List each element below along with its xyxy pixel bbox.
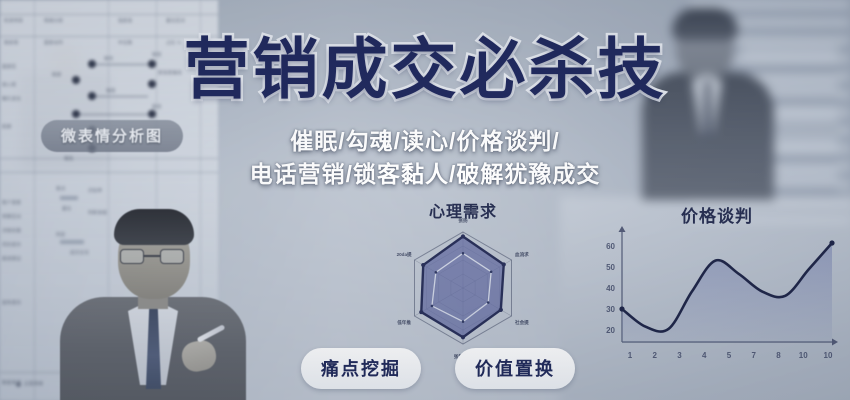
radar-chart: 心理需求 张扬血流求社会提张掌提求低年推20da提 <box>348 198 578 363</box>
pill-pain-point-mining[interactable]: 痛点挖掘 <box>301 348 421 389</box>
svg-text:10: 10 <box>799 351 808 360</box>
svg-text:低年推: 低年推 <box>396 319 411 326</box>
radar-chart-canvas: 张扬血流求社会提张掌提求低年推20da提 <box>348 218 578 363</box>
foreground-presenter <box>56 205 246 400</box>
subtitle-line-2: 电话营销/锁客黏人/破解犹豫成交 <box>0 155 850 189</box>
svg-text:社会提: 社会提 <box>514 319 529 326</box>
svg-text:血流求: 血流求 <box>515 251 529 258</box>
svg-text:40: 40 <box>606 284 615 293</box>
svg-text:30: 30 <box>606 305 615 314</box>
svg-text:20da提: 20da提 <box>397 251 412 258</box>
svg-text:2: 2 <box>653 351 658 360</box>
line-chart: 价格谈判 605040302012345781010 <box>592 198 842 378</box>
subtitle-line-1: 催眠/勾魂/读心/价格谈判/ <box>0 122 850 156</box>
presenter-glasses-bridge <box>144 255 160 257</box>
banner-stage: 检测项目 情绪分类 强度值 置信区间 微表情 面部动作 中位数 占比 % 微笑 … <box>0 0 850 400</box>
presenter-glasses-right <box>160 249 184 264</box>
svg-text:3: 3 <box>677 351 682 360</box>
svg-text:5: 5 <box>727 351 732 360</box>
line-chart-canvas: 605040302012345781010 <box>592 224 842 376</box>
svg-text:50: 50 <box>606 263 615 272</box>
svg-text:4: 4 <box>702 351 707 360</box>
presenter-glasses-left <box>120 249 144 264</box>
svg-text:1: 1 <box>628 351 633 360</box>
svg-text:20: 20 <box>606 326 615 335</box>
svg-text:张扬: 张扬 <box>458 218 468 224</box>
presenter-hair <box>114 209 194 245</box>
pill-value-exchange[interactable]: 价值置换 <box>455 348 575 389</box>
svg-text:7: 7 <box>752 351 757 360</box>
page-title: 营销成交必杀技 <box>0 36 850 102</box>
svg-text:8: 8 <box>776 351 781 360</box>
svg-text:10: 10 <box>824 351 833 360</box>
svg-text:60: 60 <box>606 242 615 251</box>
